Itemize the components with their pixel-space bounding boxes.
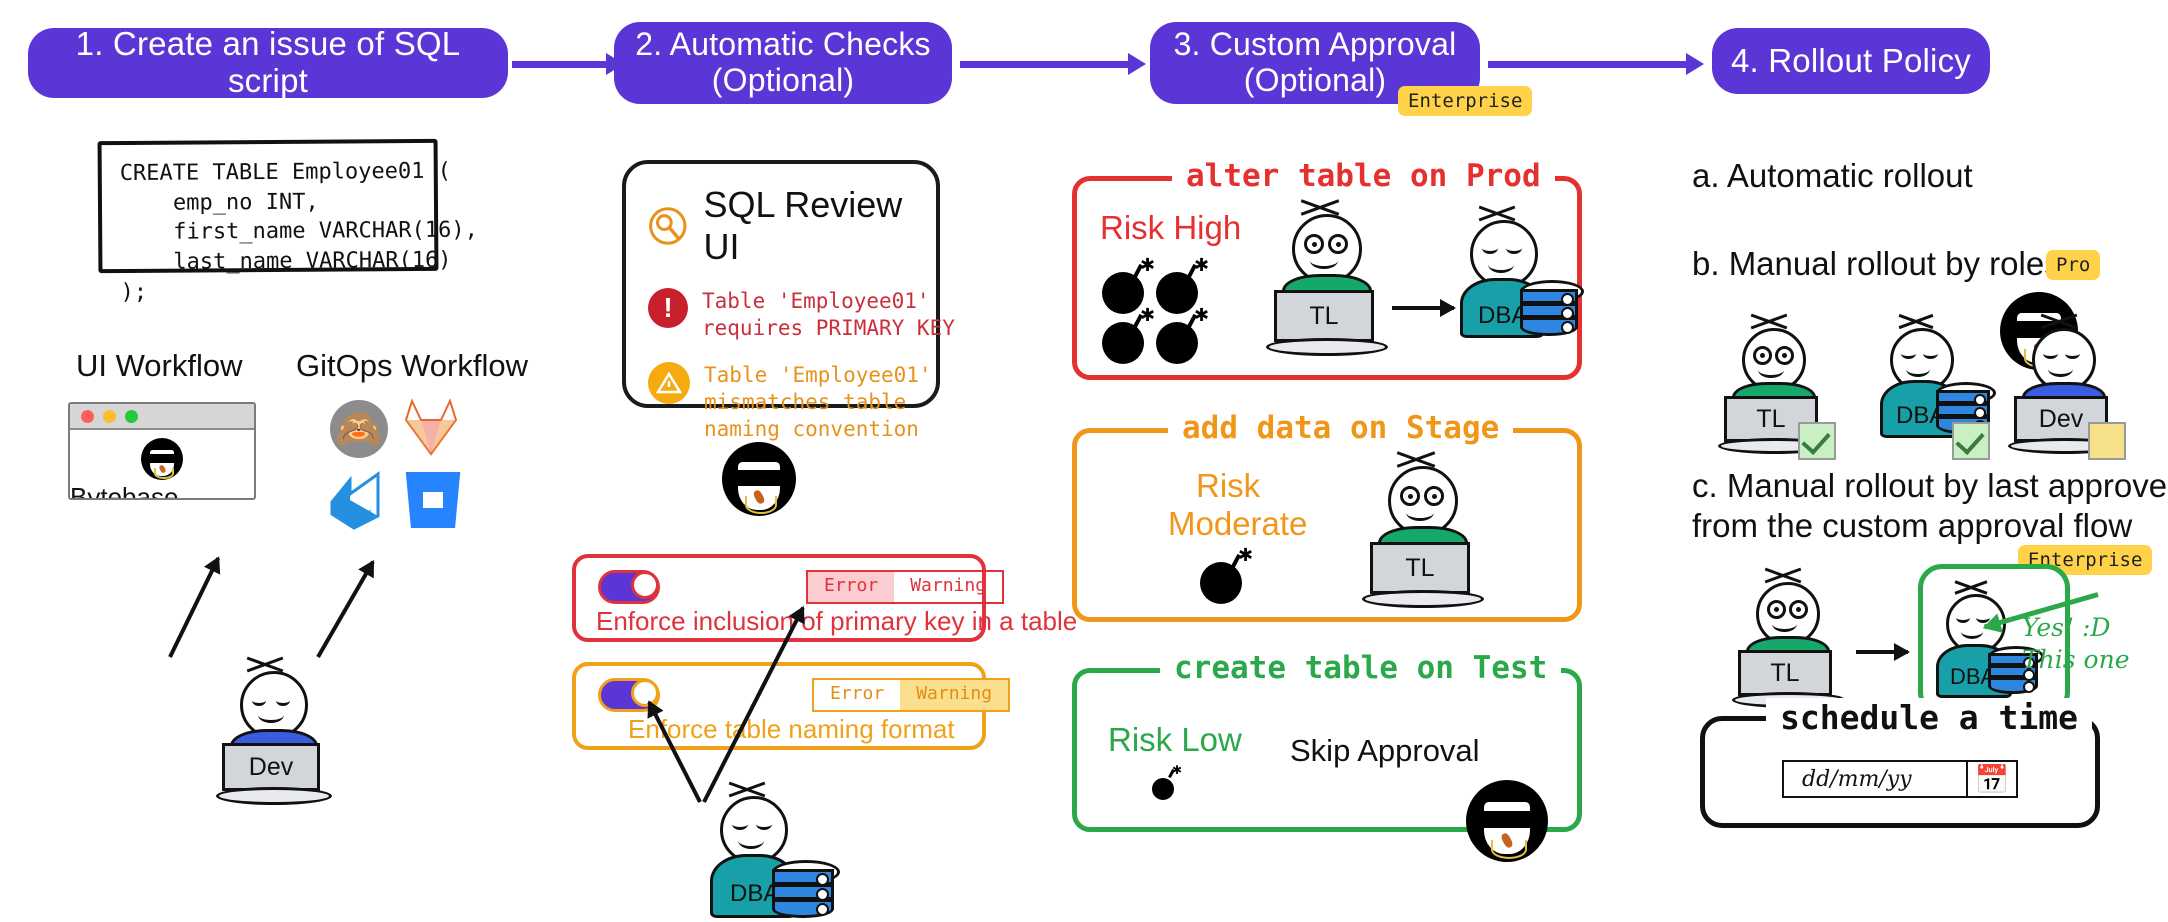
severity-option-warning[interactable]: Warning bbox=[894, 572, 1002, 602]
error-icon: ! bbox=[648, 288, 688, 328]
role-check-dba[interactable] bbox=[1952, 422, 1990, 460]
severity-selector-table-naming[interactable]: Error Warning bbox=[812, 678, 1010, 712]
close-dot-icon[interactable] bbox=[81, 410, 94, 423]
badge-pro: Pro bbox=[2046, 250, 2100, 280]
database-icon-prod bbox=[1520, 280, 1578, 336]
review-message-error: ! Table 'Employee01' requires PRIMARY KE… bbox=[648, 288, 914, 342]
figure-dev: Dev bbox=[222, 655, 352, 785]
bytebase-avatar-icon-3 bbox=[1466, 780, 1548, 862]
arrow-dev-to-ui-workflow bbox=[168, 557, 220, 658]
rule-toggle-primary-key-knob-wrap bbox=[598, 570, 660, 604]
step-pill-2-line2: (Optional) bbox=[712, 63, 855, 99]
azure-devops-logo-icon bbox=[328, 470, 390, 532]
handnote-line1: Yes! :D bbox=[2022, 612, 2110, 645]
rule-label-table-naming: Enforce table naming format bbox=[628, 714, 955, 745]
step-pill-1-label: 1. Create an issue of SQL script bbox=[46, 26, 490, 100]
skip-approval-label: Skip Approval bbox=[1290, 734, 1480, 768]
risk-label-stage-line1: Risk bbox=[1196, 468, 1260, 504]
bytebase-avatar-icon bbox=[141, 438, 183, 480]
figure-dba-checks: DBA bbox=[700, 782, 850, 912]
console-titlebar bbox=[70, 404, 254, 430]
ui-workflow-label: UI Workflow bbox=[76, 348, 243, 384]
figure-role-dev-label: Dev bbox=[2039, 405, 2083, 434]
figure-tl-prod-label: TL bbox=[1309, 302, 1338, 331]
risk-label-prod: Risk High bbox=[1100, 210, 1241, 246]
rule-label-primary-key: Enforce inclusion of primary key in a ta… bbox=[596, 606, 1077, 637]
figure-tl-stage-label: TL bbox=[1405, 554, 1434, 583]
figure-dev-label: Dev bbox=[249, 753, 293, 782]
step-pill-4-label: 4. Rollout Policy bbox=[1731, 43, 1971, 80]
figure-role-tl: TL bbox=[1728, 316, 1852, 456]
bomb-icon-stage: ✱ bbox=[1200, 552, 1252, 604]
step-pill-4[interactable]: 4. Rollout Policy bbox=[1712, 28, 1990, 94]
schedule-date-value[interactable]: dd/mm/yy bbox=[1784, 767, 1966, 792]
gitlab-logo-icon bbox=[400, 398, 462, 456]
arrow-dev-to-gitops-workflow bbox=[316, 561, 374, 658]
figure-tl-prod: TL bbox=[1276, 200, 1406, 360]
bomb-icon-4: ✱ bbox=[1156, 312, 1208, 364]
arrow-tl-to-dba-flow bbox=[1856, 650, 1908, 654]
bomb-icon-test: ✱ bbox=[1152, 768, 1184, 800]
arrow-tl-to-dba-prod bbox=[1392, 306, 1454, 310]
figure-tl-stage-laptop: TL bbox=[1370, 542, 1470, 594]
figure-dba-prod: DBA bbox=[1452, 206, 1602, 356]
github-logo-icon: 🙈 bbox=[330, 400, 388, 458]
arrow-3-to-4 bbox=[1488, 61, 1688, 68]
error-message-text: Table 'Employee01' requires PRIMARY KEY bbox=[702, 288, 955, 342]
sql-review-ui-title: SQL Review UI bbox=[704, 184, 914, 268]
toggle-knob bbox=[631, 571, 659, 599]
warning-message-text: Table 'Employee01' mismatches table nami… bbox=[704, 362, 932, 443]
step-pill-2[interactable]: 2. Automatic Checks (Optional) bbox=[614, 22, 952, 104]
schedule-date-input[interactable]: dd/mm/yy 📅 bbox=[1782, 760, 2018, 798]
figure-tl-flow-label: TL bbox=[1770, 659, 1799, 688]
bomb-icon-3: ✱ bbox=[1102, 312, 1154, 364]
figure-role-dba: DBA bbox=[1874, 316, 2014, 456]
arrow-3-to-4-head bbox=[1686, 53, 1704, 75]
figure-role-dev: Dev bbox=[2018, 316, 2142, 456]
bytebase-console-window[interactable]: Bytebase Console bbox=[68, 402, 256, 500]
figure-tl-flow: TL bbox=[1742, 570, 1866, 710]
risk-label-test: Risk Low bbox=[1108, 722, 1242, 758]
rollout-option-b: b. Manual rollout by roles bbox=[1692, 244, 2061, 284]
step-pill-3-line2: (Optional) bbox=[1244, 63, 1387, 99]
severity-selector-primary-key[interactable]: Error Warning bbox=[806, 570, 1004, 604]
figure-tl-stage: TL bbox=[1372, 452, 1502, 612]
console-content: Bytebase Console bbox=[70, 430, 254, 500]
step-pill-3-line1: 3. Custom Approval bbox=[1174, 27, 1457, 63]
approval-group-prod-title: alter table on Prod bbox=[1172, 158, 1555, 194]
figure-tl-prod-laptop: TL bbox=[1274, 290, 1374, 342]
approval-group-stage-title: add data on Stage bbox=[1168, 410, 1513, 446]
arrow-2-to-3 bbox=[960, 61, 1130, 68]
sql-script-card: CREATE TABLE Employee01 ( emp_no INT, fi… bbox=[98, 139, 439, 273]
role-check-dev[interactable] bbox=[2088, 422, 2126, 460]
console-caption: Bytebase Console bbox=[70, 482, 254, 500]
bitbucket-logo-icon bbox=[404, 472, 462, 528]
figure-tl-flow-laptop: TL bbox=[1738, 650, 1832, 696]
approval-group-stage bbox=[1072, 428, 1582, 622]
calendar-icon[interactable]: 📅 bbox=[1966, 762, 2016, 796]
step-pill-2-line1: 2. Automatic Checks bbox=[635, 27, 931, 63]
handnote-line2: This one bbox=[2022, 644, 2130, 677]
risk-label-stage-line2: Moderate bbox=[1168, 506, 1307, 542]
minimize-dot-icon[interactable] bbox=[103, 410, 116, 423]
arrow-1-to-2 bbox=[512, 61, 608, 68]
figure-role-tl-label: TL bbox=[1756, 405, 1785, 434]
sql-review-ui-card: SQL Review UI ! Table 'Employee01' requi… bbox=[622, 160, 940, 408]
maximize-dot-icon[interactable] bbox=[125, 410, 138, 423]
badge-enterprise-step3: Enterprise bbox=[1398, 86, 1532, 116]
rollout-option-c-line2: from the custom approval flow bbox=[1692, 506, 2132, 546]
step-pill-1[interactable]: 1. Create an issue of SQL script bbox=[28, 28, 508, 98]
sql-review-search-icon bbox=[648, 203, 688, 249]
sql-review-ui-header: SQL Review UI bbox=[648, 184, 914, 268]
approval-group-test-title: create table on Test bbox=[1160, 650, 1561, 686]
schedule-title: schedule a time bbox=[1766, 698, 2092, 737]
warning-icon bbox=[648, 362, 690, 404]
rollout-option-a: a. Automatic rollout bbox=[1692, 156, 1973, 196]
severity-option-error[interactable]: Error bbox=[808, 572, 894, 602]
severity-option-error-2[interactable]: Error bbox=[814, 680, 900, 710]
database-icon bbox=[772, 860, 834, 918]
bytebase-avatar-icon-2 bbox=[722, 442, 796, 516]
gitops-workflow-label: GitOps Workflow bbox=[296, 348, 528, 384]
role-check-tl[interactable] bbox=[1798, 422, 1836, 460]
rollout-option-c-line1: c. Manual rollout by last approver bbox=[1692, 466, 2168, 506]
figure-dev-laptop: Dev bbox=[222, 743, 320, 791]
arrow-2-to-3-head bbox=[1128, 53, 1146, 75]
review-message-warning: Table 'Employee01' mismatches table nami… bbox=[648, 362, 914, 443]
severity-option-warning-2[interactable]: Warning bbox=[900, 680, 1008, 710]
